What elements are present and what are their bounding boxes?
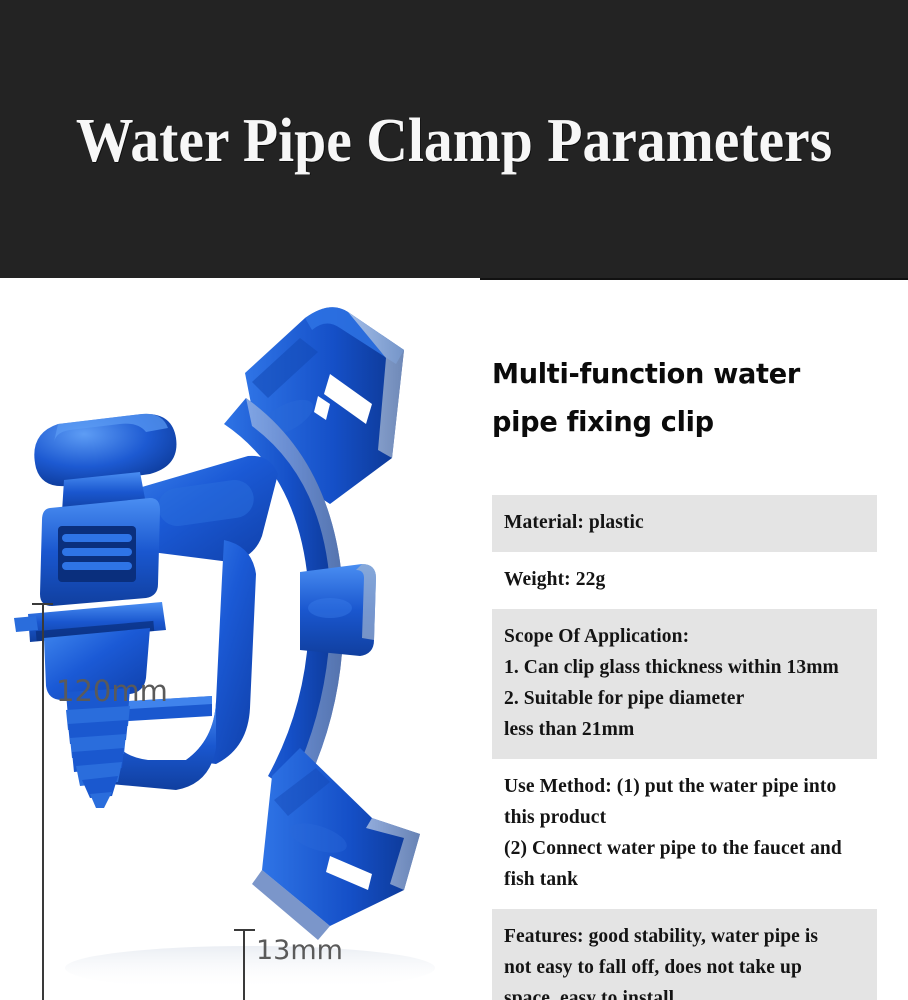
dimension-label-height: 120mm <box>56 674 168 708</box>
spec-row-line: this product <box>504 802 877 833</box>
spec-row-line: space, easy to install <box>504 983 877 1000</box>
spec-row-line: Weight: 22g <box>504 564 877 595</box>
dimension-label-glass-thickness: 13mm <box>256 935 343 966</box>
spec-row-line: 2. Suitable for pipe diameter <box>504 683 877 714</box>
spec-row: Material: plastic <box>492 495 877 552</box>
water-pipe-clamp-illustration <box>0 278 480 1000</box>
spec-row-line: 1. Can clip glass thickness within 13mm <box>504 652 877 683</box>
spec-row-line: Material: plastic <box>504 507 877 538</box>
spec-row: Features: good stability, water pipe isn… <box>492 909 877 1000</box>
spec-row: Scope Of Application:1. Can clip glass t… <box>492 609 877 759</box>
spec-row-line: not easy to fall off, does not take up <box>504 952 877 983</box>
middle-retaining-tab <box>300 564 376 656</box>
dimension-cap-top-height <box>32 603 53 605</box>
product-heading: Multi-function water pipe fixing clip <box>492 350 892 446</box>
internal-thread <box>62 534 132 570</box>
dimension-line-height <box>42 603 44 1000</box>
product-image-area: 120mm 13mm <box>0 278 480 1000</box>
product-heading-line-1: Multi-function water <box>492 350 880 398</box>
product-heading-line-2: pipe fixing clip <box>492 398 880 446</box>
spec-row-line: fish tank <box>504 864 877 895</box>
spec-row-line: Features: good stability, water pipe is <box>504 921 877 952</box>
spec-row: Use Method: (1) put the water pipe intot… <box>492 759 877 909</box>
spec-row-line: Scope Of Application: <box>504 621 877 652</box>
product-infographic: Water Pipe Clamp Parameters <box>0 0 908 1000</box>
spec-row-line: Use Method: (1) put the water pipe into <box>504 771 877 802</box>
dimension-cap-top-glass-thickness <box>234 929 255 931</box>
spec-row-list: Material: plasticWeight: 22gScope Of App… <box>492 495 877 1000</box>
spec-panel: Multi-function water pipe fixing clip Ma… <box>492 278 908 1000</box>
spec-row: Weight: 22g <box>492 552 877 609</box>
header-banner: Water Pipe Clamp Parameters <box>0 0 908 280</box>
dimension-line-glass-thickness <box>243 929 245 1000</box>
page-title: Water Pipe Clamp Parameters <box>32 106 876 176</box>
lower-pipe-channel <box>252 748 420 940</box>
thumb-screw <box>14 414 176 808</box>
spec-row-line: less than 21mm <box>504 714 877 745</box>
spec-row-line: (2) Connect water pipe to the faucet and <box>504 833 877 864</box>
